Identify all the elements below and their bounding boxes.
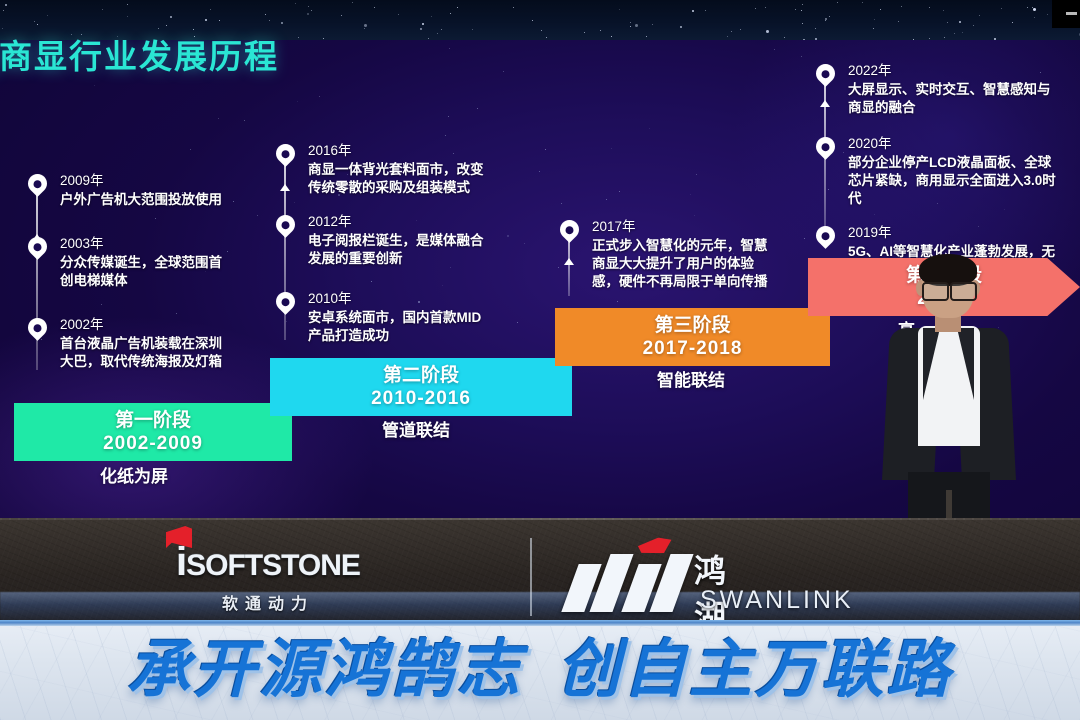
timeline-event[interactable]: 2010年 安卓系统面市，国内首款MID产品打造成功 [272, 290, 487, 345]
map-pin-icon [816, 64, 835, 83]
map-pin-icon [276, 215, 295, 234]
event-year: 2009年 [60, 172, 234, 189]
isoftstone-i: i [176, 540, 186, 584]
event-desc: 部分企业停产LCD液晶面板、全球芯片紧缺，商用显示全面进入3.0时代 [848, 154, 1062, 208]
timeline-event[interactable]: 2009年 户外广告机大范围投放使用 [24, 172, 234, 209]
event-year: 2022年 [848, 62, 1062, 79]
timeline-event[interactable]: 2002年 首台液晶广告机装载在深圳大巴，取代传统海报及灯箱 [24, 316, 234, 371]
event-year: 2003年 [60, 235, 234, 252]
lapel-right [957, 328, 974, 400]
event-year: 2002年 [60, 316, 234, 333]
event-desc: 电子阅报栏诞生，是媒体融合发展的重要创新 [308, 232, 487, 268]
stage-name: 第一阶段 [115, 409, 191, 432]
stage-name: 第三阶段 [654, 314, 730, 337]
stage-years: 2002-2009 [103, 432, 203, 455]
eyeglasses-left-lens [922, 282, 949, 301]
stage-years: 2017-2018 [643, 337, 743, 360]
stage-banner-3[interactable]: 第三阶段 2017-2018 [555, 308, 830, 366]
timeline-column-2: 2016年 商显一体背光套料面市，改变传统零散的采购及组装模式 2012年 电子… [272, 142, 487, 359]
swanlink-bars-icon [566, 550, 686, 612]
event-year: 2010年 [308, 290, 487, 307]
map-pin-icon [28, 174, 47, 193]
event-year: 2016年 [308, 142, 487, 159]
swanlink-english: SWANLINK [700, 586, 854, 615]
corner-black-patch [1052, 0, 1080, 28]
isoftstone-wordmark: iSOFTSTONE [176, 540, 360, 588]
event-year: 2017年 [592, 218, 776, 235]
isoftstone-chinese: 软通动力 [176, 590, 360, 614]
event-desc: 大屏显示、实时交互、智慧感知与商显的融合 [848, 81, 1062, 117]
stage-arrow-shape: 第二阶段 2010-2016 [270, 358, 572, 416]
stage-caption-3: 智能联结 [657, 366, 725, 391]
isoftstone-logo: iSOFTSTONE 软通动力 [176, 540, 360, 614]
map-pin-icon [816, 226, 835, 245]
event-year: 2012年 [308, 213, 487, 230]
event-slogan: 承开源鸿鹄志创自主万联路 [0, 624, 1080, 716]
event-desc: 首台液晶广告机装载在深圳大巴，取代传统海报及灯箱 [60, 335, 234, 371]
timeline-column-3: 2017年 正式步入智慧化的元年，智慧商显大大提升了用户的体验感，硬件不再局限于… [556, 218, 776, 305]
conference-stage-scene: ]商显行业发展历程 2009年 户外广告机大范围投放使用 2003年 分众传媒诞… [0, 0, 1080, 720]
logo-divider [530, 538, 532, 616]
slogan-part1: 承开源鸿鹄志 [127, 635, 523, 705]
timeline-event[interactable]: 2016年 商显一体背光套料面市，改变传统零散的采购及组装模式 [272, 142, 487, 197]
event-year: 2019年 [848, 224, 1062, 241]
timeline-event[interactable]: 2017年 正式步入智慧化的元年，智慧商显大大提升了用户的体验感，硬件不再局限于… [556, 218, 776, 291]
eyeglasses-right-lens [950, 282, 977, 301]
stage-banner-1[interactable]: 第一阶段 2002-2009 [14, 403, 292, 461]
map-pin-icon [28, 237, 47, 256]
stage-banner-2[interactable]: 第二阶段 2010-2016 [270, 358, 572, 416]
event-year: 2020年 [848, 135, 1062, 152]
timeline-event[interactable]: 2003年 分众传媒诞生，全球范围首创电梯媒体 [24, 235, 234, 290]
page-title: ]商显行业发展历程 [0, 40, 279, 73]
event-desc: 正式步入智慧化的元年，智慧商显大大提升了用户的体验感，硬件不再局限于单向传播 [592, 237, 776, 291]
stage-arrow-shape: 第三阶段 2017-2018 [555, 308, 830, 366]
isoftstone-name: SOFTSTONE [186, 549, 360, 582]
map-pin-icon [276, 292, 295, 311]
map-pin-icon [276, 144, 295, 163]
corner-dash-icon [1066, 12, 1077, 15]
stage-caption-1: 化纸为屏 [100, 462, 168, 487]
slogan-part2: 创自主万联路 [557, 635, 953, 705]
map-pin-icon [560, 220, 579, 239]
map-pin-icon [28, 318, 47, 337]
lapel-left [923, 328, 940, 400]
timeline-column-1: 2009年 户外广告机大范围投放使用 2003年 分众传媒诞生，全球范围首创电梯… [24, 172, 234, 385]
map-pin-icon [816, 137, 835, 156]
stage-name: 第二阶段 [383, 364, 459, 387]
event-desc: 安卓系统面市，国内首款MID产品打造成功 [308, 309, 487, 345]
timeline-event[interactable]: 2022年 大屏显示、实时交互、智慧感知与商显的融合 [812, 62, 1062, 117]
timeline-event[interactable]: 2012年 电子阅报栏诞生，是媒体融合发展的重要创新 [272, 213, 487, 268]
ceiling-starfield-band [0, 0, 1080, 40]
stage-years: 2010-2016 [371, 387, 471, 410]
timeline-event[interactable]: 2020年 部分企业停产LCD液晶面板、全球芯片紧缺，商用显示全面进入3.0时代 [812, 135, 1062, 208]
event-desc: 商显一体背光套料面市，改变传统零散的采购及组装模式 [308, 161, 487, 197]
event-desc: 户外广告机大范围投放使用 [60, 191, 234, 209]
speaker-person [878, 258, 1018, 556]
stage-arrow-shape: 第一阶段 2002-2009 [14, 403, 292, 461]
stage-caption-2: 管道联结 [382, 416, 450, 441]
event-desc: 分众传媒诞生，全球范围首创电梯媒体 [60, 254, 234, 290]
